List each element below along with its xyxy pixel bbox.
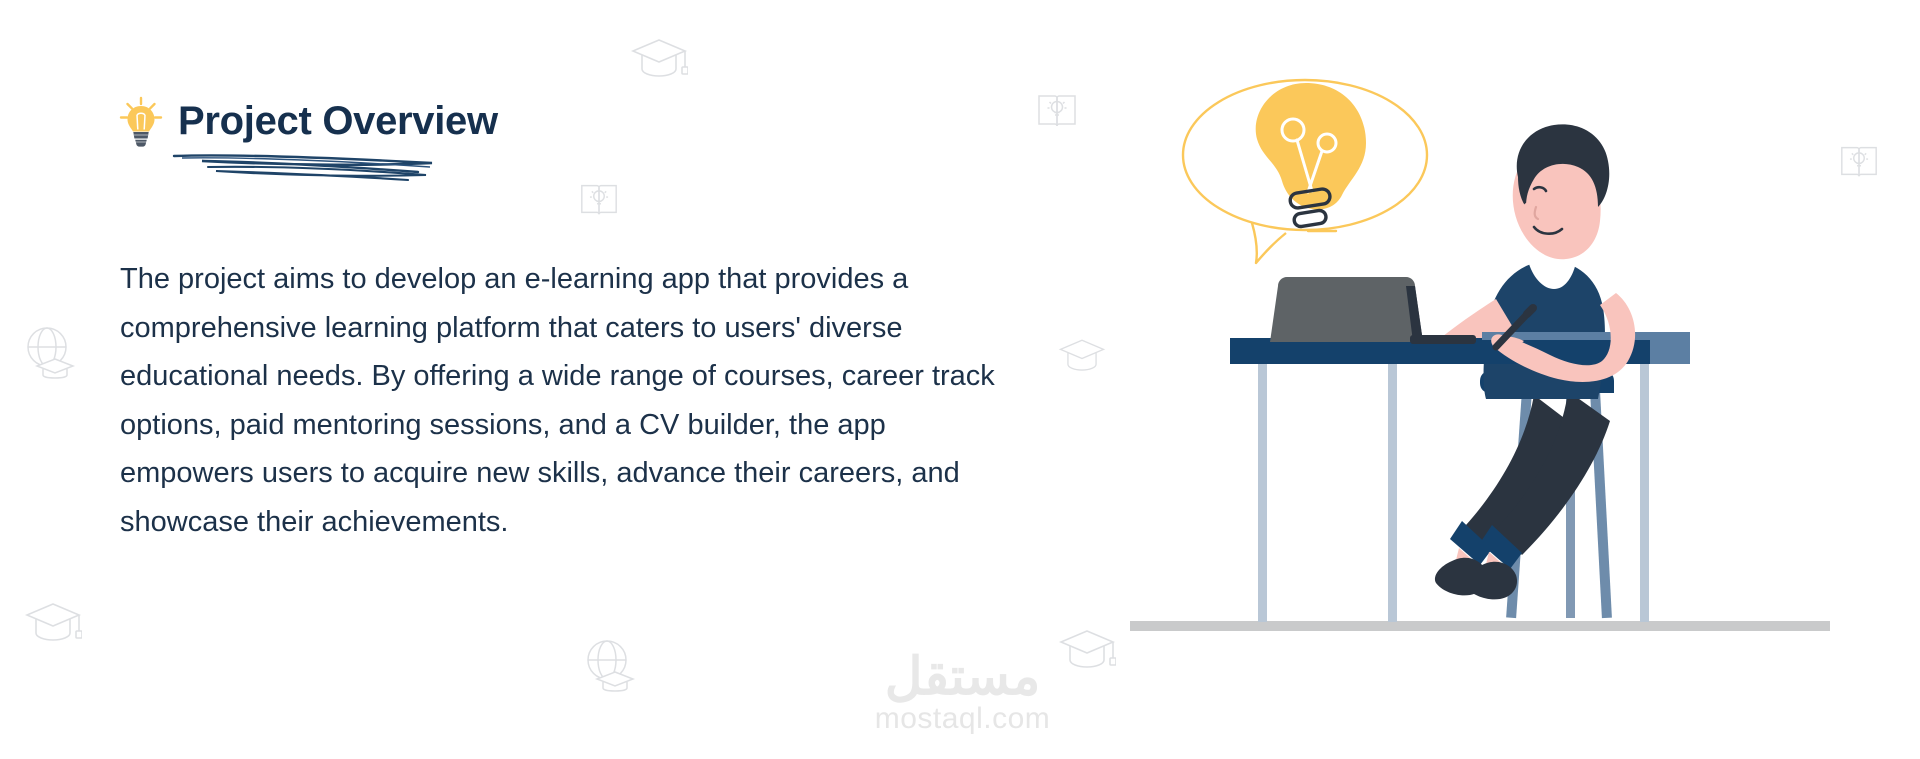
watermark-arabic-text: مستقل bbox=[855, 648, 1070, 706]
bubble-lightbulb-icon bbox=[1256, 83, 1366, 227]
project-overview-slide: Project Overview The project aims to dev… bbox=[0, 0, 1920, 759]
lightbulb-icon bbox=[118, 95, 164, 147]
page-title: Project Overview bbox=[178, 101, 498, 141]
floor-line bbox=[1130, 621, 1830, 631]
text-column: Project Overview The project aims to dev… bbox=[0, 0, 1060, 759]
laptop bbox=[1270, 277, 1476, 344]
overview-paragraph: The project aims to develop an e-learnin… bbox=[120, 255, 1010, 546]
mostaql-watermark: مستقل mostaql.com bbox=[855, 648, 1070, 736]
book-lightbulb-icon bbox=[1838, 140, 1880, 182]
heading-row: Project Overview bbox=[118, 95, 498, 147]
person-head bbox=[1513, 124, 1610, 259]
watermark-latin-text: mostaql.com bbox=[855, 702, 1070, 736]
graduation-cap-icon bbox=[1058, 335, 1106, 377]
student-at-desk-illustration bbox=[1130, 55, 1830, 675]
title-underline-swoosh bbox=[168, 148, 438, 184]
